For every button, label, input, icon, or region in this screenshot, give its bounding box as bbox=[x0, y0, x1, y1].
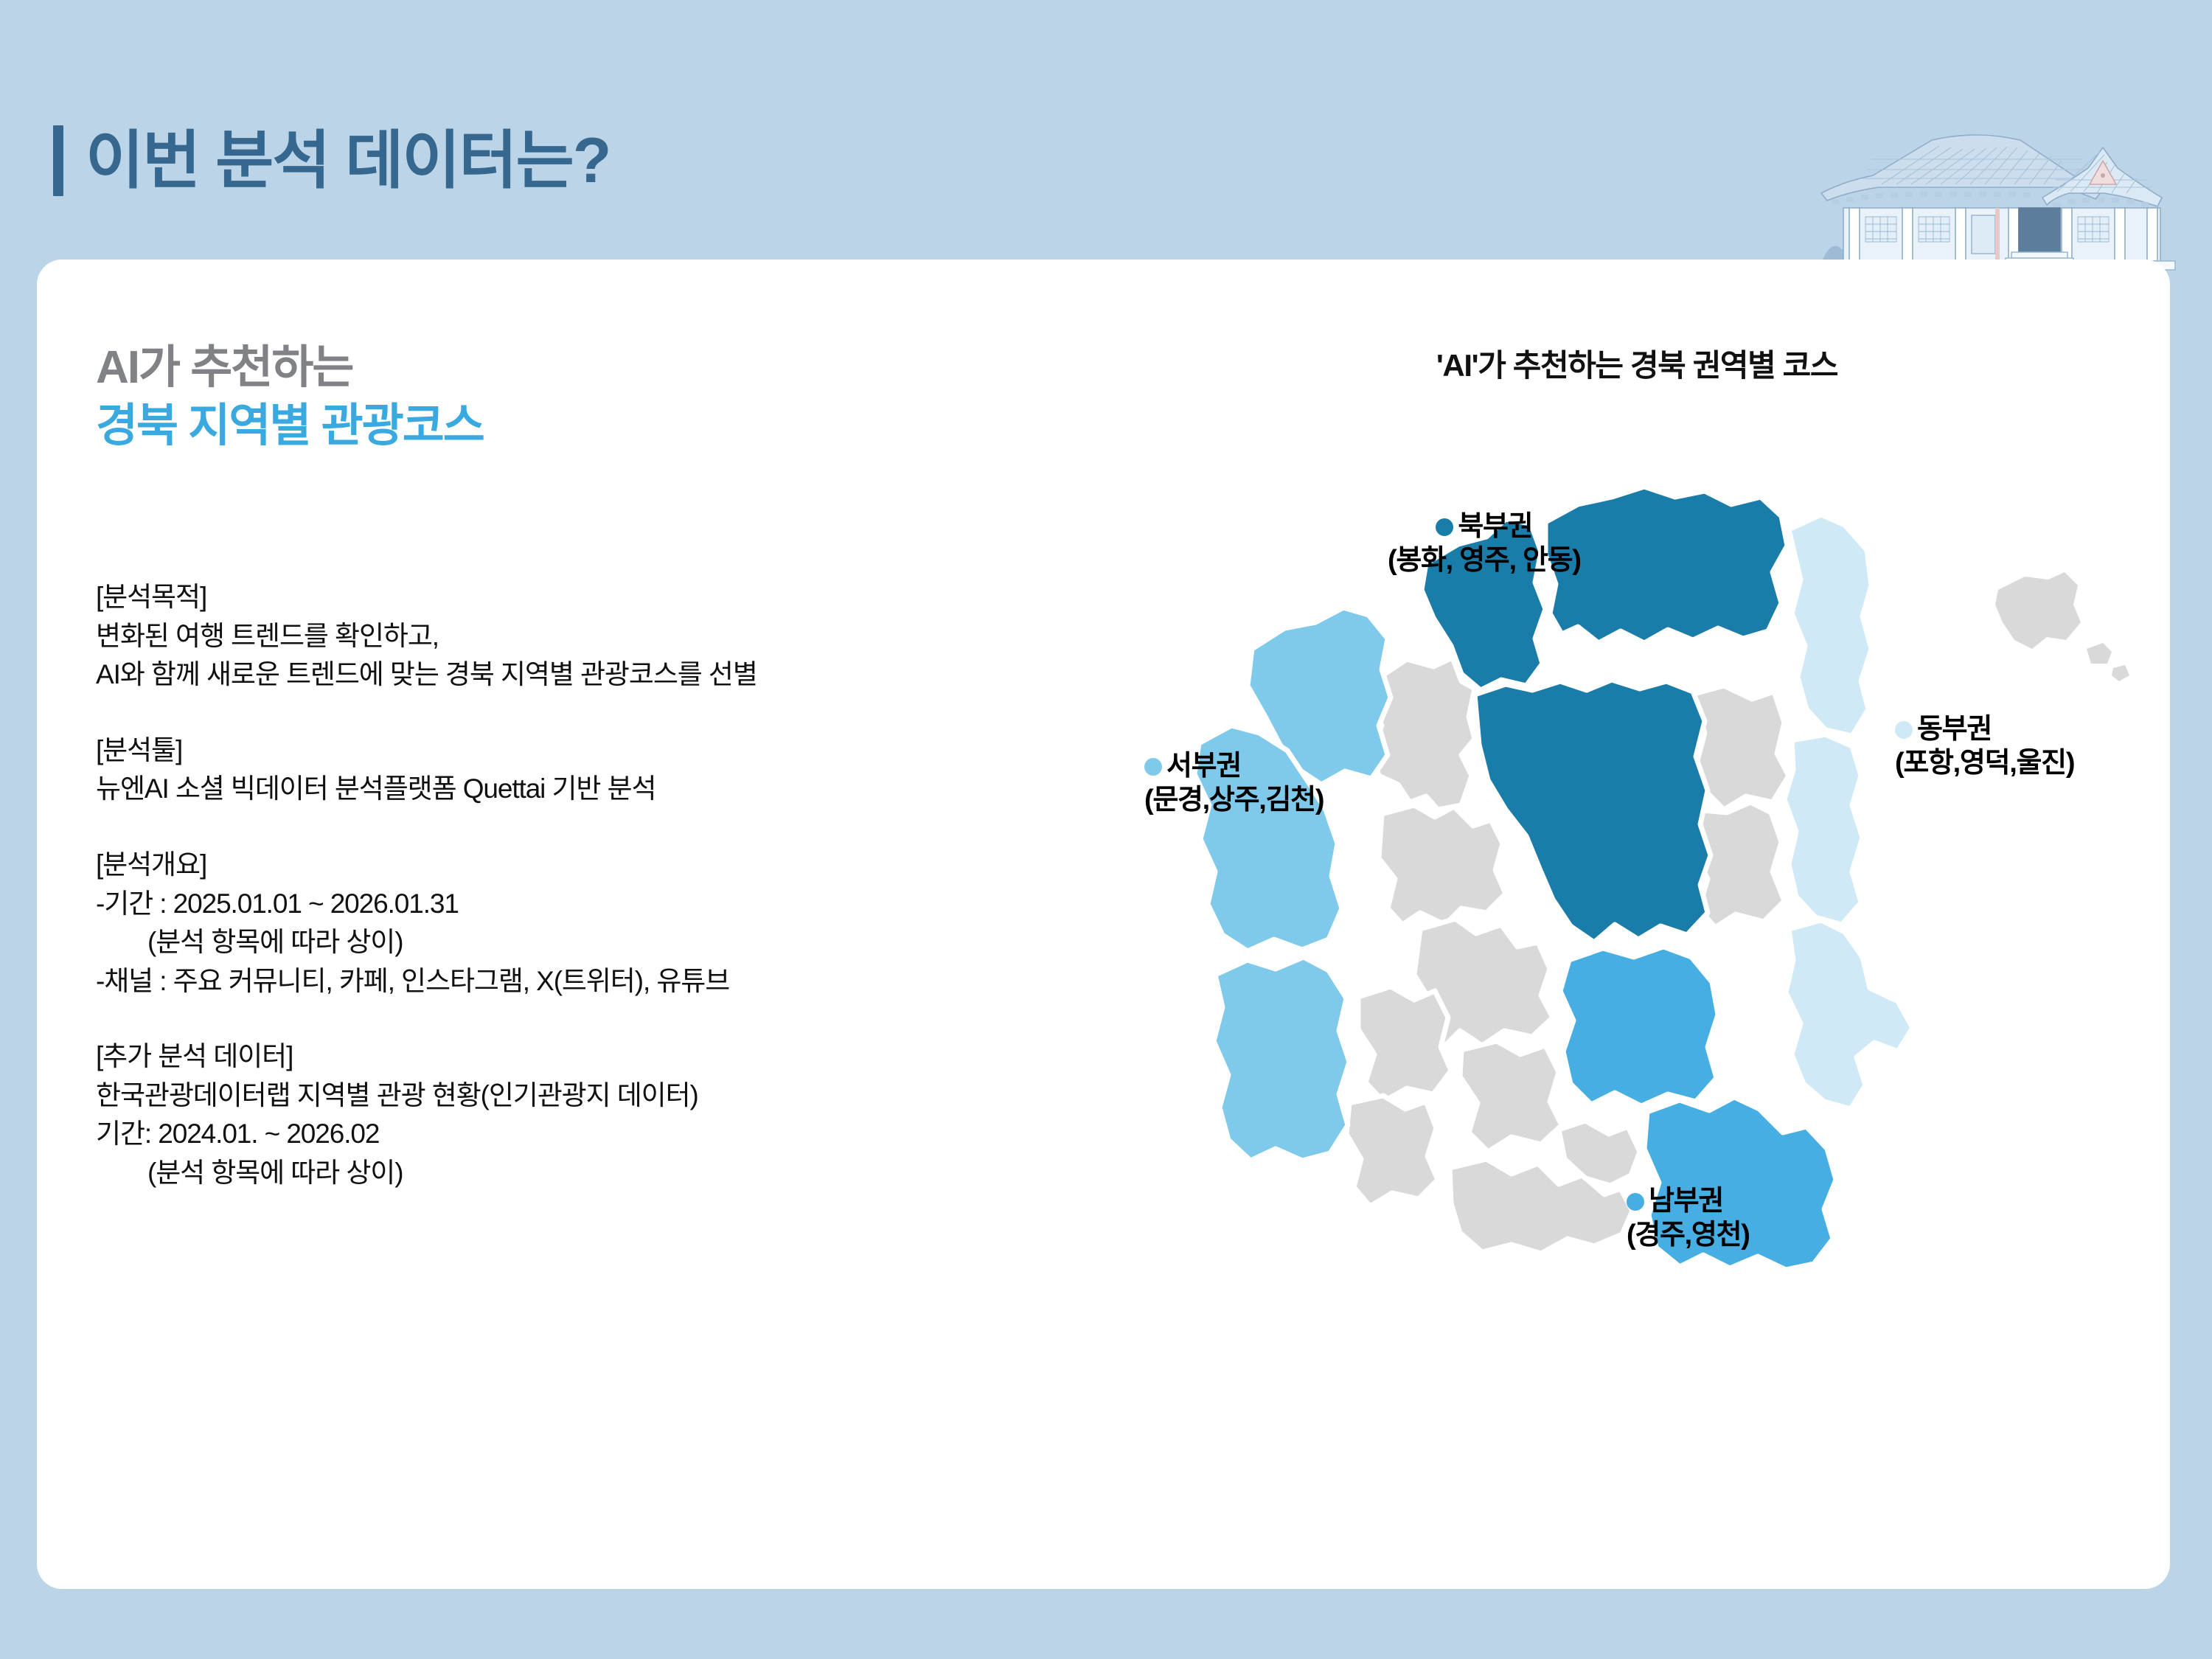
block-line: 뉴엔AI 소셜 빅데이터 분석플랫폼 Quettai 기반 분석 bbox=[96, 770, 1069, 809]
map-region-north-andong[interactable] bbox=[1475, 680, 1711, 942]
region-dot-south-icon bbox=[1627, 1193, 1644, 1211]
block-line: (분석 항목에 따라 상이) bbox=[96, 1154, 1069, 1193]
region-callout-east[interactable]: 동부권 (포항,영덕,울진) bbox=[1895, 713, 2074, 780]
subheading-blue: 경북 지역별 관광코스 bbox=[96, 399, 1069, 453]
block-line: (분석 항목에 따라 상이) bbox=[96, 923, 1069, 962]
map-title: 'AI'가 추천하는 경북 권역별 코스 bbox=[1128, 341, 2146, 386]
map-region-east-yeongdeok[interactable] bbox=[1784, 734, 1863, 925]
block-line: 기간: 2024.01. ~ 2026.02 bbox=[96, 1115, 1069, 1154]
map-region-gray[interactable] bbox=[1346, 1096, 1438, 1206]
region-name: 북부권 bbox=[1458, 510, 1532, 544]
hanok-building-icon bbox=[1799, 105, 2212, 274]
block-label: [추가 분석 데이터] bbox=[96, 1037, 1069, 1077]
region-name: 서부권 bbox=[1166, 750, 1241, 784]
region-cities: (문경,상주,김천) bbox=[1144, 784, 1324, 818]
region-name: 동부권 bbox=[1917, 713, 1992, 747]
info-block-purpose: [분석목적] 변화된 여행 트렌드를 확인하고, AI와 함께 새로운 트렌드에… bbox=[96, 578, 1069, 695]
block-line: 한국관광데이터랩 지역별 관광 현황(인기관광지 데이터) bbox=[96, 1077, 1069, 1116]
map-region-east-pohang[interactable] bbox=[1786, 920, 1913, 1109]
block-label: [분석툴] bbox=[96, 731, 1069, 771]
map-region-south-yeongcheon[interactable] bbox=[1560, 947, 1718, 1106]
region-callout-south[interactable]: 남부권 (경주,영천) bbox=[1627, 1185, 1750, 1252]
subheading-gray: AI가 추천하는 bbox=[96, 341, 1069, 394]
map-region-island[interactable] bbox=[1995, 572, 2081, 649]
page-title-wrap: 이번 분석 데이터는? bbox=[53, 125, 610, 196]
block-line: -채널 : 주요 커뮤니티, 카페, 인스타그램, X(트위터), 유튜브 bbox=[96, 962, 1069, 1001]
region-cities: (경주,영천) bbox=[1627, 1219, 1750, 1253]
left-column: AI가 추천하는 경북 지역별 관광코스 [분석목적] 변화된 여행 트렌드를 … bbox=[96, 341, 1069, 1192]
map-column: 'AI'가 추천하는 경북 권역별 코스 bbox=[1128, 341, 2146, 1550]
gyeongbuk-region-map[interactable] bbox=[1128, 392, 2146, 1461]
block-line: 변화된 여행 트렌드를 확인하고, bbox=[96, 617, 1069, 656]
page-header: 이번 분석 데이터는? bbox=[0, 0, 2212, 260]
block-label: [분석목적] bbox=[96, 578, 1069, 617]
region-callout-north[interactable]: 북부권 (봉화, 영주, 안동) bbox=[1388, 510, 1581, 577]
analysis-info-blocks: [분석목적] 변화된 여행 트렌드를 확인하고, AI와 함께 새로운 트렌드에… bbox=[96, 578, 1069, 1192]
region-dot-east-icon bbox=[1895, 721, 1913, 739]
block-line: AI와 함께 새로운 트렌드에 맞는 경북 지역별 관광코스를 선별 bbox=[96, 655, 1069, 695]
block-line: -기간 : 2025.01.01 ~ 2026.01.31 bbox=[96, 885, 1069, 924]
map-region-north-bonghwa[interactable] bbox=[1545, 487, 1787, 643]
block-label: [분석개요] bbox=[96, 846, 1069, 885]
map-region-gray[interactable] bbox=[1358, 987, 1451, 1102]
content-card: AI가 추천하는 경북 지역별 관광코스 [분석목적] 변화된 여행 트렌드를 … bbox=[37, 260, 2170, 1589]
map-region-gray[interactable] bbox=[1559, 1121, 1640, 1186]
region-callout-west[interactable]: 서부권 (문경,상주,김천) bbox=[1144, 750, 1324, 817]
info-block-extra-data: [추가 분석 데이터] 한국관광데이터랩 지역별 관광 현황(인기관광지 데이터… bbox=[96, 1037, 1069, 1192]
region-dot-north-icon bbox=[1436, 518, 1453, 536]
info-block-tool: [분석툴] 뉴엔AI 소셜 빅데이터 분석플랫폼 Quettai 기반 분석 bbox=[96, 731, 1069, 809]
map-region-gray[interactable] bbox=[1379, 805, 1506, 925]
map-region-east-uljin[interactable] bbox=[1789, 515, 1871, 736]
region-cities: (봉화, 영주, 안동) bbox=[1388, 544, 1581, 578]
region-cities: (포항,영덕,울진) bbox=[1895, 747, 2074, 781]
info-block-overview: [분석개요] -기간 : 2025.01.01 ~ 2026.01.31 (분석… bbox=[96, 846, 1069, 1001]
region-name: 남부권 bbox=[1649, 1185, 1723, 1219]
map-region-island[interactable] bbox=[2112, 665, 2129, 681]
map-region-gray[interactable] bbox=[1460, 1041, 1562, 1152]
map-region-west-gimcheon[interactable] bbox=[1214, 957, 1349, 1161]
page-title: 이번 분석 데이터는? bbox=[86, 129, 610, 192]
map-region-island[interactable] bbox=[2087, 643, 2112, 664]
vertical-bar-icon bbox=[53, 125, 63, 196]
region-dot-west-icon bbox=[1144, 758, 1162, 776]
